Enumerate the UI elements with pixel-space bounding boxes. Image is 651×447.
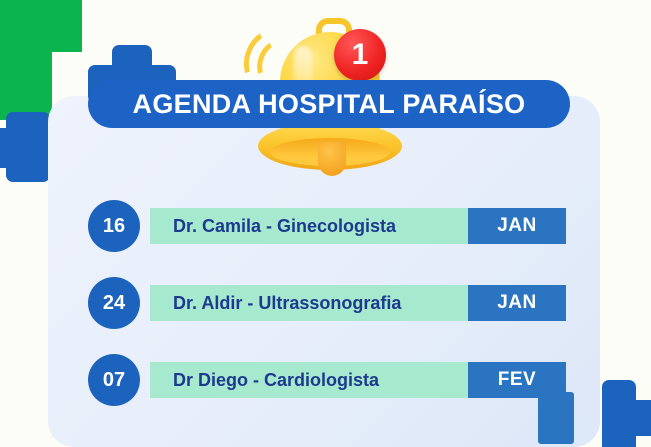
poster-canvas: 1 AGENDA HOSPITAL PARAÍSO 16 Dr. Camila …	[0, 0, 651, 447]
appointment-day-circle: 07	[88, 354, 140, 406]
appointment-month-chip: JAN	[468, 285, 566, 321]
appointment-description: Dr Diego - Cardiologista	[173, 362, 478, 398]
title-banner: AGENDA HOSPITAL PARAÍSO	[88, 80, 570, 128]
page-title: AGENDA HOSPITAL PARAÍSO	[133, 89, 526, 120]
appointment-day-circle: 16	[88, 200, 140, 252]
green-cross-decoration-horizontal	[0, 0, 82, 52]
blue-cross-left-vertical	[6, 112, 50, 182]
appointment-month-chip: JAN	[468, 208, 566, 244]
appointment-day: 16	[103, 215, 125, 238]
blue-cross-bottom-right-vertical	[602, 380, 636, 447]
appointment-day-circle: 24	[88, 277, 140, 329]
appointment-row[interactable]: 16 Dr. Camila - Ginecologista JAN	[88, 200, 566, 250]
appointment-description: Dr. Camila - Ginecologista	[173, 208, 478, 244]
appointment-month: JAN	[497, 292, 537, 314]
appointment-month: JAN	[497, 215, 537, 237]
appointment-day: 24	[103, 292, 125, 315]
bell-clapper	[318, 142, 346, 176]
appointment-description: Dr. Aldir - Ultrassonografia	[173, 285, 478, 321]
appointment-row[interactable]: 07 Dr Diego - Cardiologista FEV	[88, 354, 566, 404]
notification-badge-count: 1	[352, 40, 369, 70]
notification-badge: 1	[334, 29, 386, 81]
appointment-month: FEV	[498, 369, 536, 391]
appointment-day: 07	[103, 369, 125, 392]
appointment-row[interactable]: 24 Dr. Aldir - Ultrassonografia JAN	[88, 277, 566, 327]
appointment-month-chip: FEV	[468, 362, 566, 398]
